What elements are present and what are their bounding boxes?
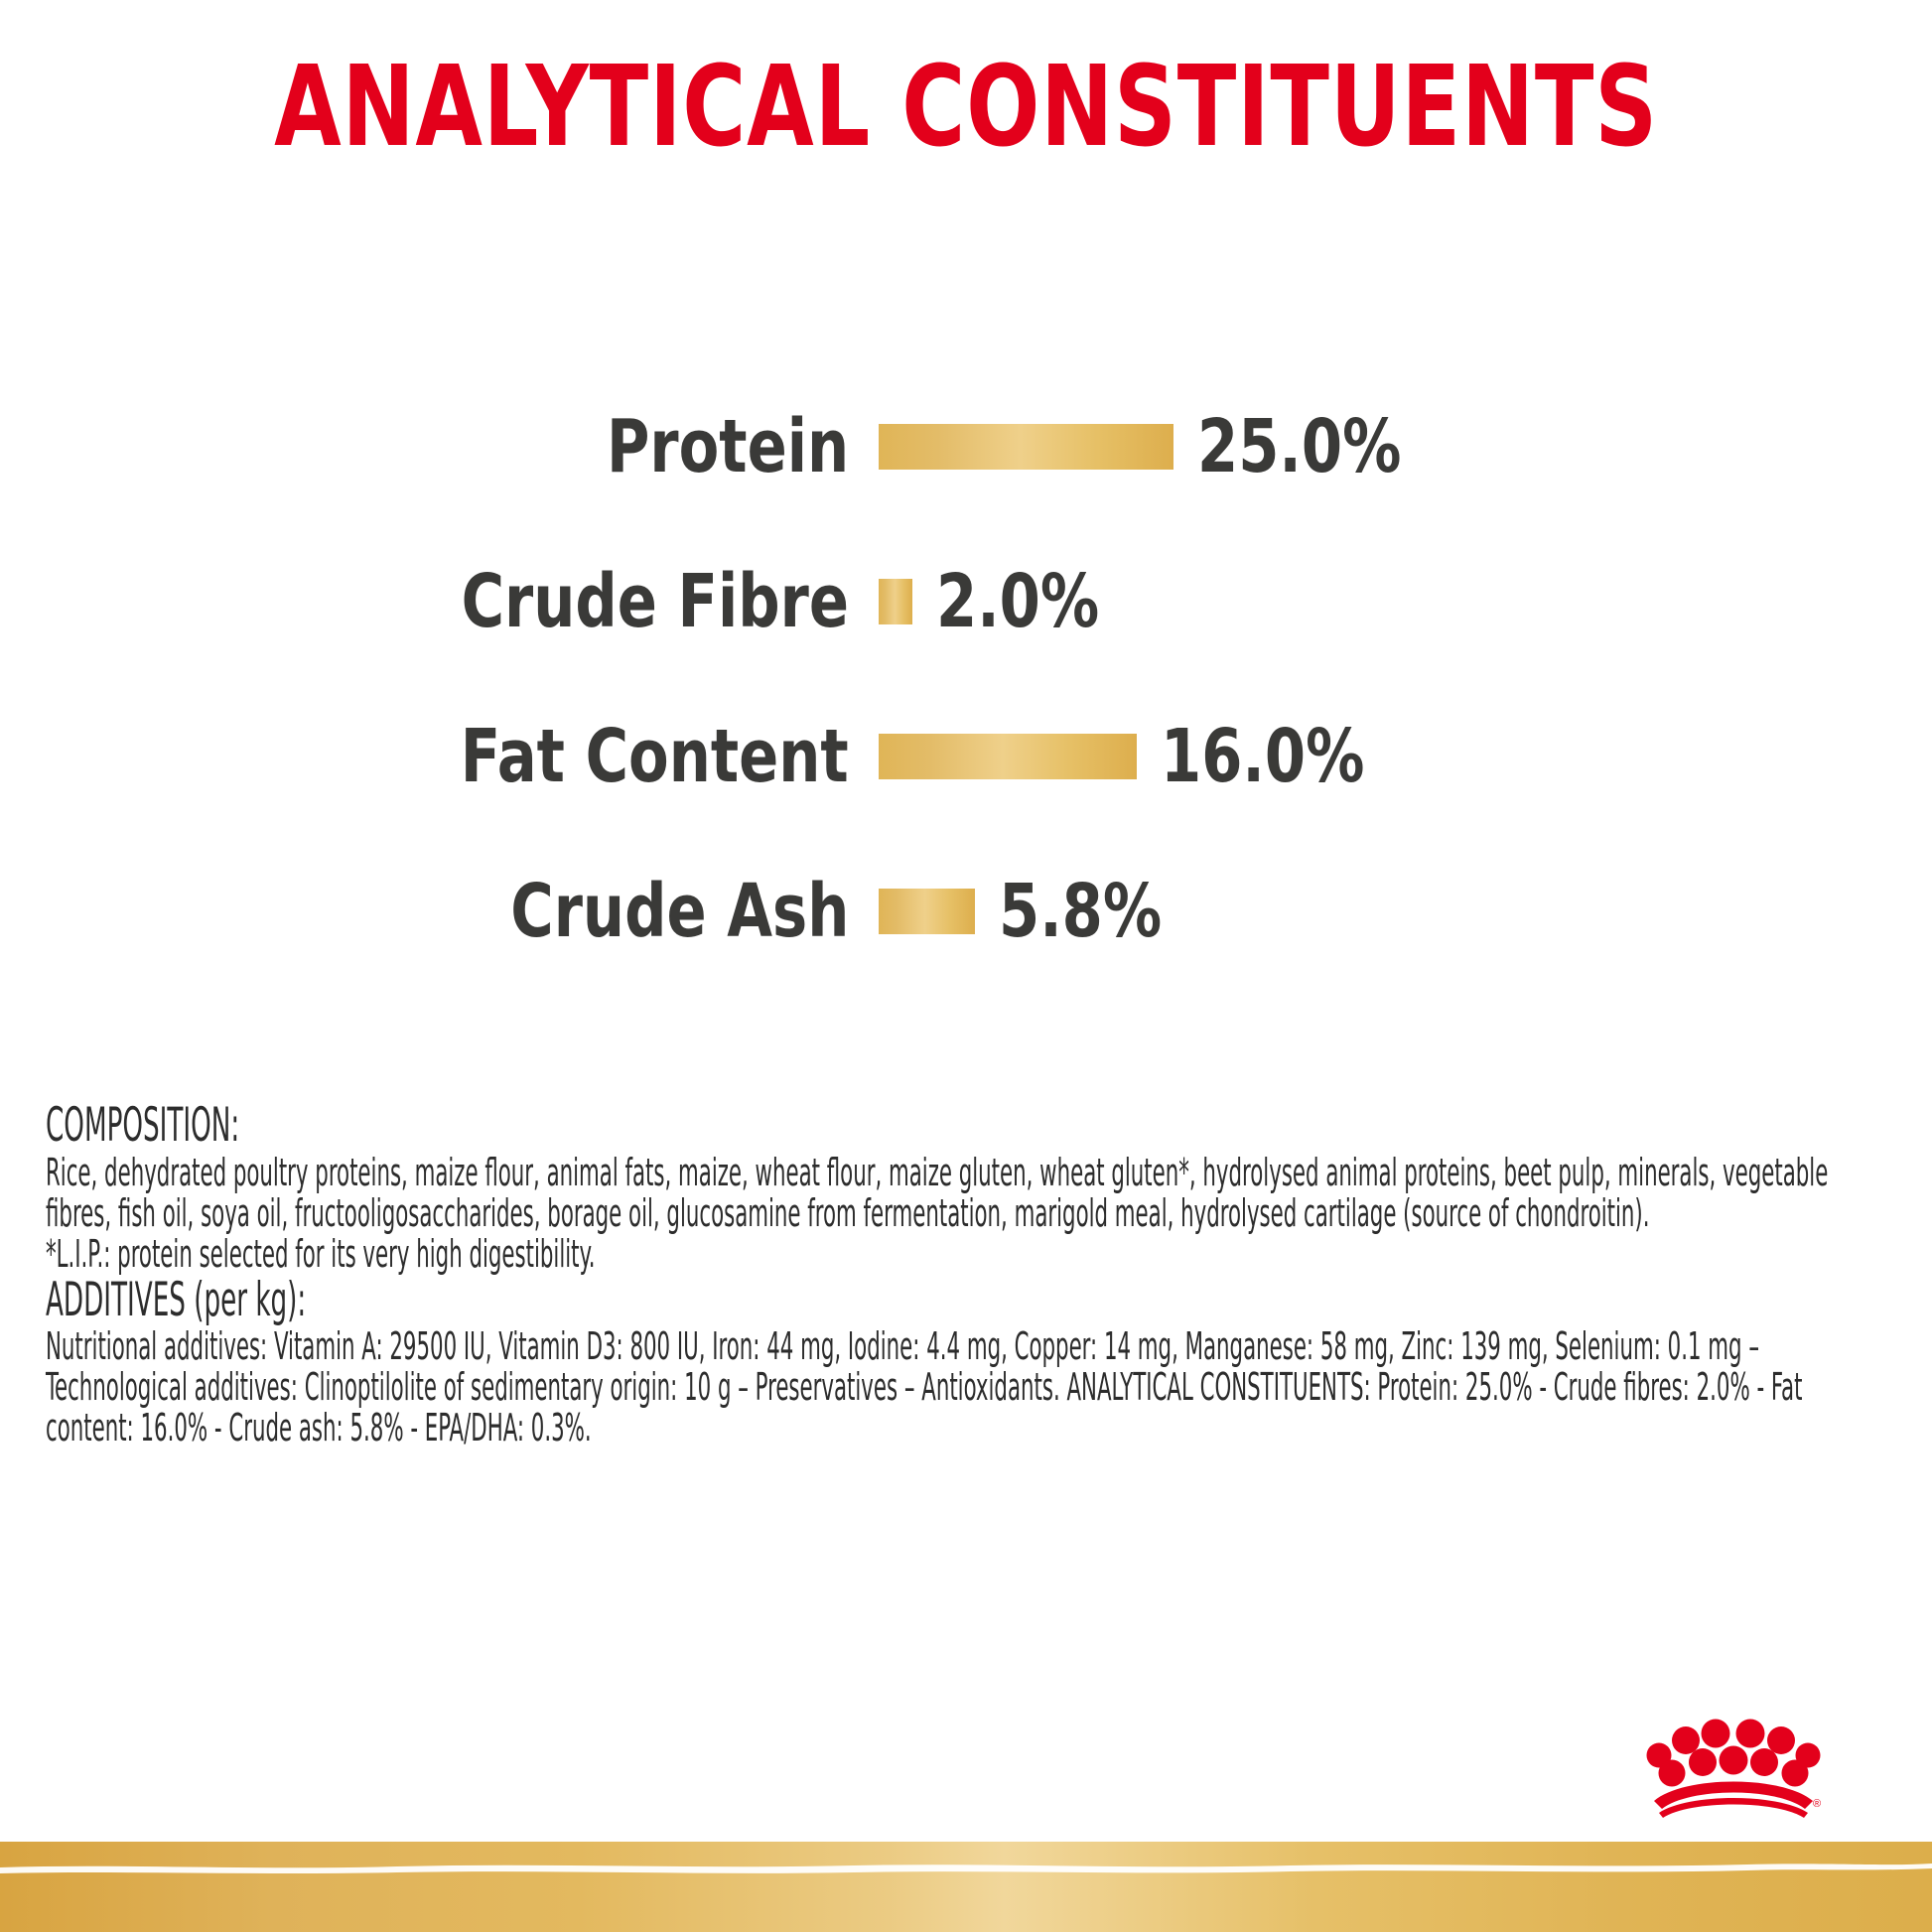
analytical-constituents-chart: Protein 25.0% Crude Fibre 2.0% Fat Conte…	[0, 369, 1932, 989]
brush-stroke-icon	[0, 1862, 1932, 1875]
bar-track-crude-ash	[879, 889, 975, 934]
bar-row-fat-content: Fat Content 16.0%	[0, 679, 1932, 834]
page-title: ANALYTICAL CONSTITUENTS	[212, 52, 1720, 163]
additives-heading: ADDITIVES (per kg):	[46, 1275, 1188, 1327]
bar-row-protein: Protein 25.0%	[0, 369, 1932, 524]
ingredients-text-block: COMPOSITION: Rice, dehydrated poultry pr…	[46, 1100, 1888, 1449]
bar-track-protein	[879, 424, 1173, 470]
bar-row-crude-fibre: Crude Fibre 2.0%	[0, 524, 1932, 679]
bar-fill-protein	[879, 424, 1173, 470]
bar-label-crude-fibre: Crude Fibre	[462, 565, 849, 638]
bottom-gold-band	[0, 1842, 1932, 1932]
registered-mark: ®	[1813, 1798, 1821, 1810]
bar-track-crude-fibre	[879, 579, 912, 624]
bar-row-crude-ash: Crude Ash 5.8%	[0, 834, 1932, 989]
composition-heading: COMPOSITION:	[46, 1100, 1188, 1153]
crown-icon: ®	[1646, 1716, 1821, 1819]
royal-canin-crown-logo: ®	[1646, 1716, 1821, 1819]
composition-body: Rice, dehydrated poultry proteins, maize…	[46, 1153, 1889, 1234]
bar-label-crude-ash: Crude Ash	[510, 875, 849, 948]
bar-label-protein: Protein	[607, 410, 849, 483]
bar-fill-fat-content	[879, 734, 1137, 779]
bar-label-fat-content: Fat Content	[461, 720, 849, 793]
bar-value-fat-content: 16.0%	[1161, 720, 1364, 793]
additives-body: Nutritional additives: Vitamin A: 29500 …	[46, 1326, 1889, 1449]
composition-footnote: *L.I.P.: protein selected for its very h…	[46, 1234, 1889, 1275]
bar-fill-crude-ash	[879, 889, 975, 934]
bar-value-protein: 25.0%	[1197, 410, 1401, 483]
bar-fill-crude-fibre	[879, 579, 912, 624]
bar-value-crude-fibre: 2.0%	[936, 565, 1099, 638]
bar-value-crude-ash: 5.8%	[999, 875, 1162, 948]
bar-track-fat-content	[879, 734, 1137, 779]
